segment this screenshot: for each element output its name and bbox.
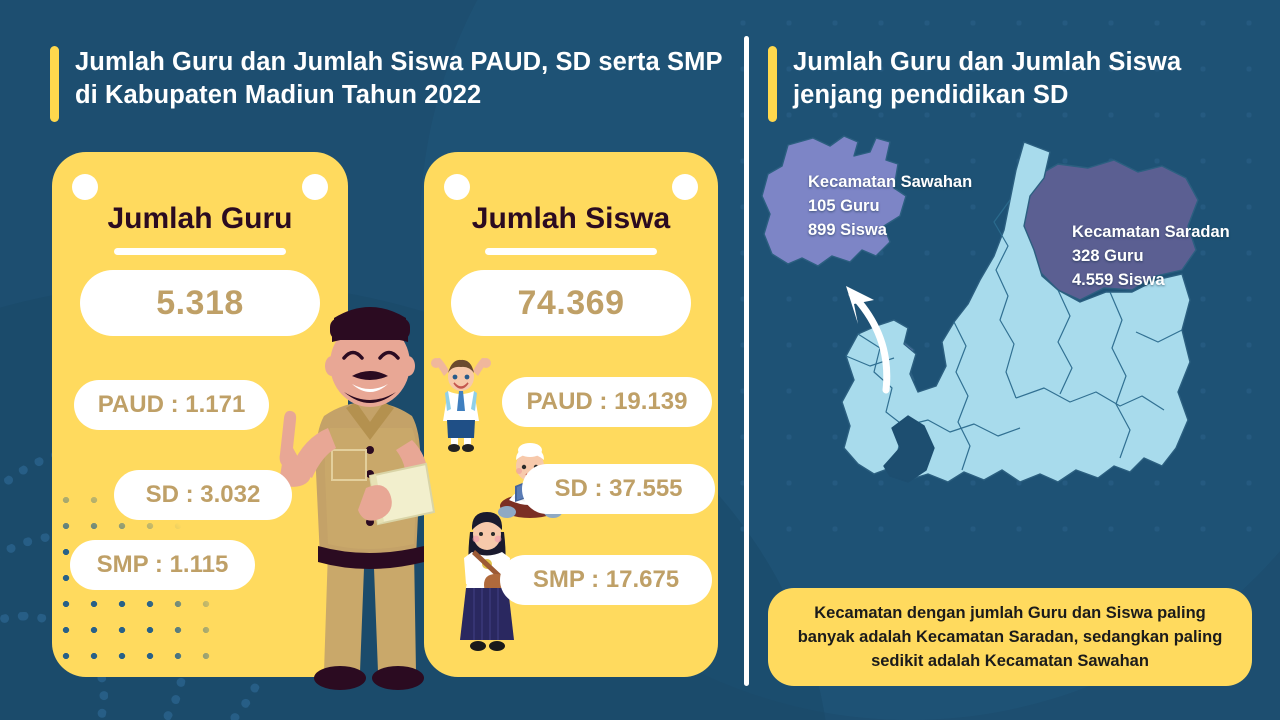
card-guru-row-sd: SD : 3.032	[114, 470, 292, 520]
card-siswa-row-sd: SD : 37.555	[522, 464, 715, 514]
map-label-sawahan: Kecamatan Sawahan 105 Guru 899 Siswa	[808, 170, 1048, 242]
card-siswa-rule	[485, 248, 657, 255]
accent-bar	[768, 46, 777, 122]
card-guru-row-paud: PAUD : 1.171	[74, 380, 269, 430]
panel-divider	[744, 36, 749, 686]
card-hole-left-icon	[444, 174, 470, 200]
map-label-sawahan-name: Kecamatan Sawahan	[808, 170, 1048, 194]
card-hole-left-icon	[72, 174, 98, 200]
map-label-sawahan-guru: 105 Guru	[808, 194, 1048, 218]
card-guru-row-smp: SMP : 1.115	[70, 540, 255, 590]
card-guru-rule	[114, 248, 286, 255]
card-siswa-total: 74.369	[451, 270, 691, 336]
card-siswa-row-smp: SMP : 17.675	[500, 555, 712, 605]
map-label-saradan-siswa: 4.559 Siswa	[1072, 268, 1280, 292]
map-label-saradan: Kecamatan Saradan 328 Guru 4.559 Siswa	[1072, 220, 1280, 292]
student-boy-illustration-icon	[430, 358, 492, 454]
left-panel-title: Jumlah Guru dan Jumlah Siswa PAUD, SD se…	[75, 46, 740, 112]
left-panel-header: Jumlah Guru dan Jumlah Siswa PAUD, SD se…	[50, 46, 740, 122]
summary-callout: Kecamatan dengan jumlah Guru dan Siswa p…	[768, 588, 1252, 686]
card-siswa-row-paud: PAUD : 19.139	[502, 377, 712, 427]
map-label-sawahan-siswa: 899 Siswa	[808, 218, 1048, 242]
right-panel-title: Jumlah Guru dan Jumlah Siswa jenjang pen…	[793, 46, 1248, 112]
infographic-canvas: Jumlah Guru dan Jumlah Siswa PAUD, SD se…	[0, 0, 1280, 720]
map-label-saradan-name: Kecamatan Saradan	[1072, 220, 1280, 244]
right-panel-header: Jumlah Guru dan Jumlah Siswa jenjang pen…	[768, 46, 1248, 122]
accent-bar	[50, 46, 59, 122]
card-siswa-title: Jumlah Siswa	[424, 202, 718, 236]
card-hole-right-icon	[672, 174, 698, 200]
card-hole-right-icon	[302, 174, 328, 200]
card-guru-title: Jumlah Guru	[52, 202, 348, 236]
map-label-saradan-guru: 328 Guru	[1072, 244, 1280, 268]
